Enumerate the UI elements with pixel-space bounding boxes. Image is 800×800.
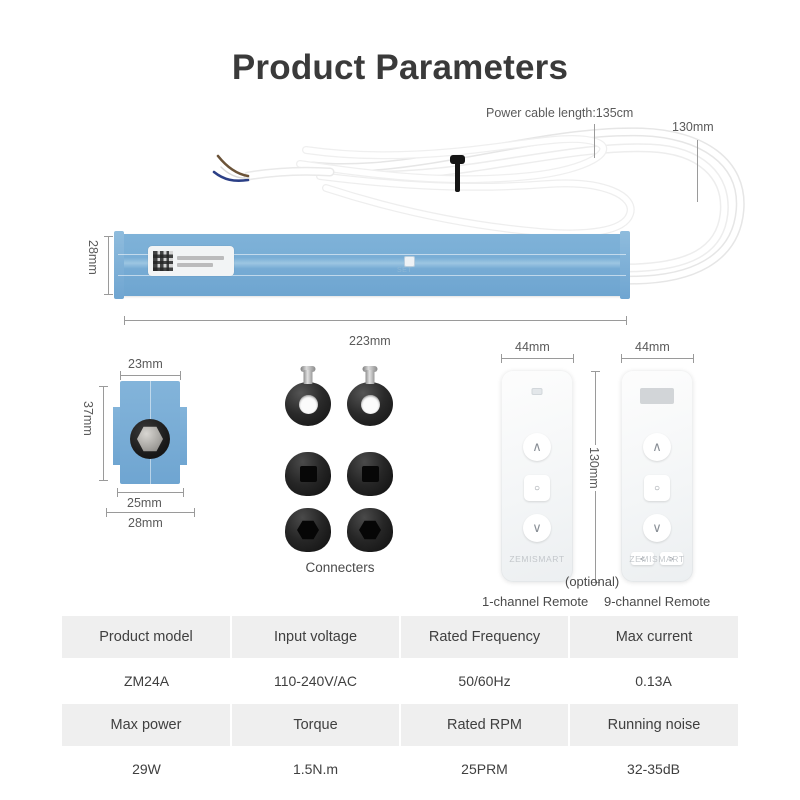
connector-square-socket bbox=[347, 452, 393, 496]
spec-table-body: Product model Input voltage Rated Freque… bbox=[62, 616, 738, 791]
motor-body: SET bbox=[118, 234, 626, 296]
hex-socket-bore bbox=[359, 520, 381, 540]
ring-connector-body bbox=[285, 382, 331, 426]
table-cell: 25PRM bbox=[400, 747, 569, 791]
remote-left-width-label: 44mm bbox=[515, 340, 550, 354]
table-cell: 0.13A bbox=[569, 659, 738, 703]
set-button-label: SET bbox=[397, 267, 412, 274]
motor-height-label: 28mm bbox=[86, 240, 100, 275]
table-header-row: Max power Torque Rated RPM Running noise bbox=[62, 703, 738, 747]
table-header-cell: Torque bbox=[231, 703, 400, 747]
ring-connector-hole bbox=[299, 395, 318, 414]
remote-9-channel[interactable]: ∧ ○ ∨ < > ZΕMISMART bbox=[621, 370, 693, 582]
table-header-cell: Input voltage bbox=[231, 616, 400, 659]
motor-length-tick-right bbox=[626, 316, 627, 325]
table-row: 29W 1.5N.m 25PRM 32-35dB bbox=[62, 747, 738, 791]
motor-height-tick-top bbox=[104, 236, 113, 237]
product-parameters-page: Product Parameters bbox=[0, 0, 800, 800]
cable-length-label: Power cable length:135cm bbox=[486, 106, 633, 120]
table-cell: ZM24A bbox=[62, 659, 231, 703]
remote-1-channel[interactable]: ∧ ○ ∨ ZΕMISMART bbox=[501, 370, 573, 582]
remote-lcd-display bbox=[640, 388, 674, 404]
specifications-table: Product model Input voltage Rated Freque… bbox=[62, 616, 738, 792]
loop-height-leader bbox=[697, 140, 698, 202]
table-cell: 32-35dB bbox=[569, 747, 738, 791]
sticker-line bbox=[177, 256, 224, 260]
sticker-line bbox=[177, 263, 213, 267]
remote-9-channel-caption: 9-channel Remote bbox=[604, 594, 710, 609]
connector-hex-socket bbox=[285, 508, 331, 552]
motor-end-cap-right bbox=[620, 231, 630, 299]
connector-hex-socket bbox=[347, 508, 393, 552]
bracket-top-tick-left bbox=[120, 371, 121, 380]
bracket-outer-dim-line bbox=[106, 512, 194, 513]
connectors-group: Connecters bbox=[285, 368, 395, 553]
remote-right-width-label: 44mm bbox=[635, 340, 670, 354]
motor-height-dim-line bbox=[108, 236, 109, 294]
bracket-outer-tick-left bbox=[106, 508, 107, 517]
ring-connector-hole bbox=[361, 395, 380, 414]
connector-square-socket bbox=[285, 452, 331, 496]
remote-1-channel-caption: 1-channel Remote bbox=[482, 594, 588, 609]
bracket-ear-right bbox=[179, 407, 187, 465]
screw-shaft-icon bbox=[366, 370, 375, 384]
hex-socket-body bbox=[347, 508, 393, 552]
remote-right-width-tick-right bbox=[693, 354, 694, 363]
screw-shaft-icon bbox=[304, 370, 313, 384]
bracket-height-label: 37mm bbox=[81, 401, 95, 436]
connector-ring bbox=[347, 382, 393, 426]
remote-down-button[interactable]: ∨ bbox=[643, 514, 671, 542]
motor-height-tick-bottom bbox=[104, 294, 113, 295]
table-cell: 1.5N.m bbox=[231, 747, 400, 791]
ring-connector-body bbox=[347, 382, 393, 426]
bracket-inner-tick-right bbox=[183, 488, 184, 497]
square-socket-body bbox=[347, 452, 393, 496]
table-header-cell: Product model bbox=[62, 616, 231, 659]
table-header-cell: Rated RPM bbox=[400, 703, 569, 747]
remote-left-width-tick-left bbox=[501, 354, 502, 363]
cable-length-leader bbox=[594, 124, 595, 158]
square-socket-body bbox=[285, 452, 331, 496]
ir-indicator-icon bbox=[532, 388, 543, 395]
remote-up-button[interactable]: ∧ bbox=[523, 433, 551, 461]
bracket-hex-nut bbox=[137, 426, 163, 452]
remote-right-width-tick-left bbox=[621, 354, 622, 363]
bracket-height-tick-top bbox=[99, 386, 108, 387]
loop-height-label: 130mm bbox=[672, 120, 714, 134]
mounting-bracket bbox=[113, 381, 187, 484]
table-row: ZM24A 110-240V/AC 50/60Hz 0.13A bbox=[62, 659, 738, 703]
remote-down-button[interactable]: ∨ bbox=[523, 514, 551, 542]
bracket-inner-tick-left bbox=[117, 488, 118, 497]
bracket-inner-dim-line bbox=[117, 492, 183, 493]
bracket-height-tick-bottom bbox=[99, 480, 108, 481]
remote-brand-logo: ZΕMISMART bbox=[501, 554, 573, 564]
connector-ring bbox=[285, 382, 331, 426]
hex-socket-bore bbox=[297, 520, 319, 540]
optional-label: (optional) bbox=[565, 574, 619, 589]
remote-left-width-dim-line bbox=[501, 358, 573, 359]
motor-length-dim-line bbox=[124, 320, 626, 321]
hex-socket-body bbox=[285, 508, 331, 552]
table-header-cell: Rated Frequency bbox=[400, 616, 569, 659]
connectors-caption: Connecters bbox=[285, 560, 395, 575]
remote-stop-button[interactable]: ○ bbox=[524, 475, 550, 501]
sticker-text-lines bbox=[177, 256, 229, 267]
bracket-height-dim-line bbox=[103, 386, 104, 480]
motor-end-cap-left bbox=[114, 231, 124, 299]
bracket-outer-tick-right bbox=[194, 508, 195, 517]
motor-length-tick-left bbox=[124, 316, 125, 325]
motor-length-label: 223mm bbox=[349, 334, 391, 348]
bracket-inner-label: 25mm bbox=[125, 496, 164, 510]
bracket-outer-label: 28mm bbox=[128, 516, 163, 530]
table-header-row: Product model Input voltage Rated Freque… bbox=[62, 616, 738, 659]
table-cell: 50/60Hz bbox=[400, 659, 569, 703]
square-socket-bore bbox=[362, 466, 379, 482]
table-cell: 29W bbox=[62, 747, 231, 791]
table-header-cell: Running noise bbox=[569, 703, 738, 747]
remote-brand-logo: ZΕMISMART bbox=[621, 554, 693, 564]
table-header-cell: Max power bbox=[62, 703, 231, 747]
remote-up-button[interactable]: ∧ bbox=[643, 433, 671, 461]
product-sticker bbox=[148, 246, 234, 276]
table-cell: 110-240V/AC bbox=[231, 659, 400, 703]
remote-stop-button[interactable]: ○ bbox=[644, 475, 670, 501]
qr-code-icon bbox=[153, 251, 173, 271]
remote-right-width-dim-line bbox=[621, 358, 693, 359]
bracket-top-tick-right bbox=[180, 371, 181, 380]
bracket-top-dim-line bbox=[120, 375, 180, 376]
square-socket-bore bbox=[300, 466, 317, 482]
bracket-top-label: 23mm bbox=[128, 357, 163, 371]
bracket-bearing-hole bbox=[130, 419, 170, 459]
remote-left-width-tick-right bbox=[573, 354, 574, 363]
remote-height-tick-top bbox=[591, 371, 600, 372]
remote-height-label: 130mm bbox=[587, 445, 601, 491]
table-header-cell: Max current bbox=[569, 616, 738, 659]
set-button[interactable] bbox=[404, 256, 415, 267]
